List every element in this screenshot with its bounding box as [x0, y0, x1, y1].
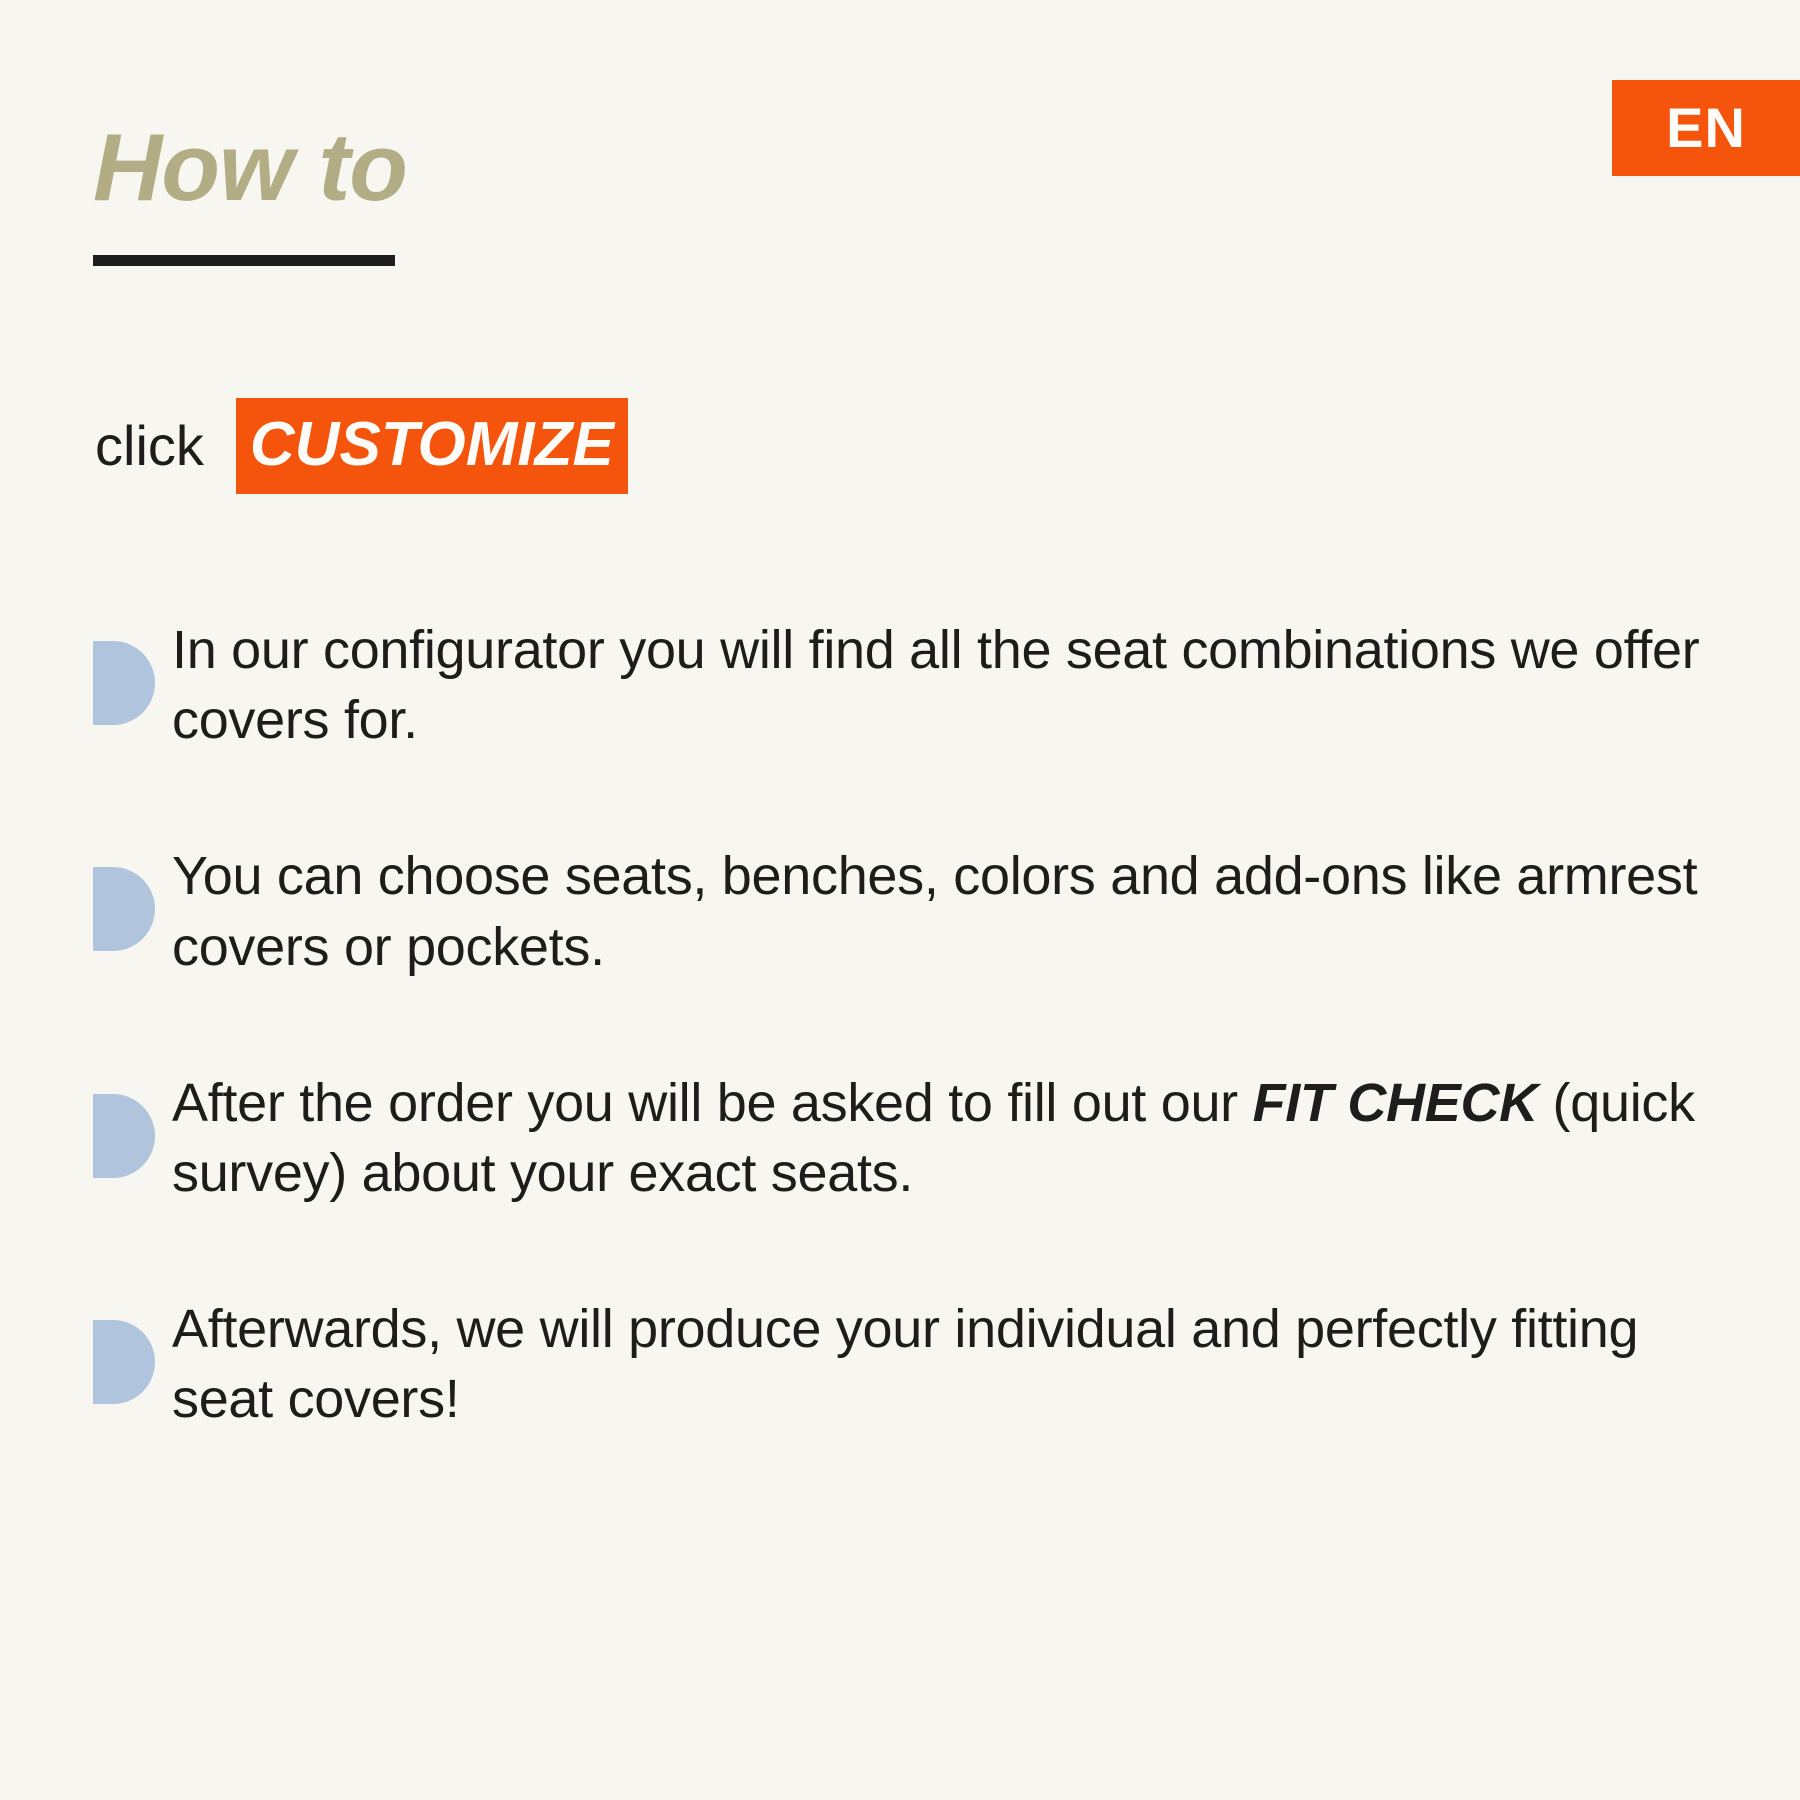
how-to-infographic: EN How to click CUSTOMIZE In our configu…: [0, 0, 1800, 1800]
heading-underline-rule: [93, 255, 395, 266]
page-title: How to: [93, 118, 407, 219]
bullet-marker-icon: [93, 1094, 155, 1178]
list-item-text: In our configurator you will find all th…: [172, 615, 1753, 755]
cta-prefix-label: click: [95, 418, 204, 474]
list-item: You can choose seats, benches, colors an…: [93, 841, 1753, 981]
list-item-text-lead: After the order you will be asked to fil…: [172, 1073, 1253, 1133]
heading-block: How to: [93, 118, 407, 266]
language-badge[interactable]: EN: [1612, 80, 1800, 176]
bullet-marker-icon: [93, 1320, 155, 1404]
list-item: In our configurator you will find all th…: [93, 615, 1753, 755]
bullet-marker-icon: [93, 641, 155, 725]
bullet-marker-icon: [93, 867, 155, 951]
list-item: After the order you will be asked to fil…: [93, 1068, 1753, 1208]
list-item-text: You can choose seats, benches, colors an…: [172, 841, 1753, 981]
list-item-text-emphasis: FIT CHECK: [1253, 1073, 1538, 1133]
language-badge-label: EN: [1666, 100, 1746, 156]
cta-line: click CUSTOMIZE: [95, 398, 628, 494]
list-item-text: After the order you will be asked to fil…: [172, 1068, 1753, 1208]
steps-list: In our configurator you will find all th…: [93, 615, 1753, 1435]
customize-button[interactable]: CUSTOMIZE: [236, 398, 628, 494]
list-item-text: Afterwards, we will produce your individ…: [172, 1294, 1753, 1434]
list-item: Afterwards, we will produce your individ…: [93, 1294, 1753, 1434]
